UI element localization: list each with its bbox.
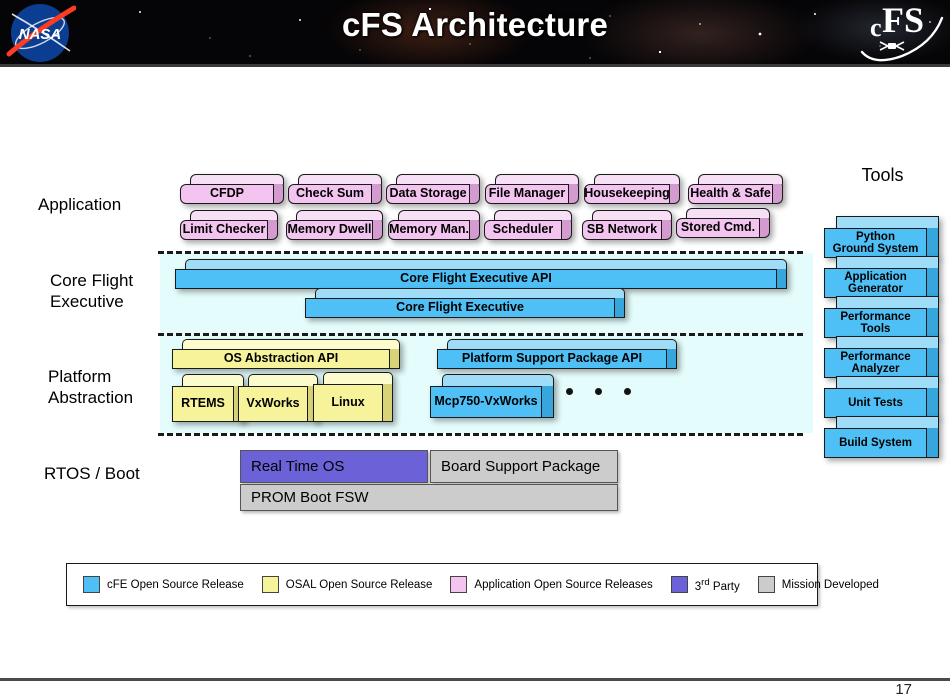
ellipsis-dot xyxy=(566,388,573,395)
app-box-housekeeping[interactable]: Housekeeping xyxy=(584,174,680,204)
os-box-rtems[interactable]: RTEMS xyxy=(172,374,244,422)
tools-label-line2: Ground System xyxy=(833,243,919,255)
tools-label-line2: Generator xyxy=(848,283,903,295)
row-label-rtos-boot: RTOS / Boot xyxy=(44,463,140,484)
tools-label-line2: Analyzer xyxy=(852,363,900,375)
app-label: CFDP xyxy=(180,184,274,204)
legend-item-third-party: 3rd Party xyxy=(671,576,740,593)
cfe-core-label: Core Flight Executive xyxy=(305,298,615,318)
app-box-sb-network[interactable]: SB Network xyxy=(582,210,672,240)
row-label-application: Application xyxy=(38,194,121,215)
legend-item-application: Application Open Source Releases xyxy=(450,576,652,593)
tools-box-python-ground-system[interactable]: Python Ground System xyxy=(824,216,939,258)
app-label: Stored Cmd. xyxy=(676,218,760,238)
osal-api-box[interactable]: OS Abstraction API xyxy=(172,339,400,369)
app-label: Memory Dwell xyxy=(286,220,373,240)
footer-divider xyxy=(0,678,950,681)
tools-label-line1: Performance xyxy=(840,351,910,363)
app-box-memory-man[interactable]: Memory Man. xyxy=(388,210,480,240)
app-box-memory-dwell[interactable]: Memory Dwell xyxy=(286,210,383,240)
legend: cFE Open Source Release OSAL Open Source… xyxy=(66,563,818,606)
legend-label: Mission Developed xyxy=(782,579,879,591)
divider-app-cfe xyxy=(158,251,803,254)
tools-box-build-system[interactable]: Build System xyxy=(824,416,939,458)
tools-label-line1: Application xyxy=(844,271,907,283)
os-label: RTEMS xyxy=(172,386,234,422)
app-label: Limit Checker xyxy=(180,220,268,240)
os-label: VxWorks xyxy=(238,386,308,422)
banner-divider xyxy=(0,64,950,67)
tools-label-line1: Build System xyxy=(824,428,927,458)
legend-swatch-application xyxy=(450,576,467,593)
legend-swatch-third-party xyxy=(671,576,688,593)
row-label-platform-abstraction: Platform Abstraction xyxy=(48,366,133,408)
rtos-box-real-time-os[interactable]: Real Time OS xyxy=(240,450,428,483)
app-box-check-sum[interactable]: Check Sum xyxy=(288,174,382,204)
app-label: Scheduler xyxy=(484,220,562,240)
app-box-limit-checker[interactable]: Limit Checker xyxy=(180,210,278,240)
app-label: Check Sum xyxy=(288,184,372,204)
cfe-core-box[interactable]: Core Flight Executive xyxy=(305,288,625,318)
cfe-api-box[interactable]: Core Flight Executive API xyxy=(175,259,787,289)
app-label: Housekeeping xyxy=(584,184,670,204)
legend-item-osal: OSAL Open Source Release xyxy=(262,576,433,593)
ellipsis-dot xyxy=(624,388,631,395)
slide-canvas: NASA c FS cFS Architecture Application C… xyxy=(0,0,950,695)
app-label: Health & Safe xyxy=(688,184,773,204)
os-label: Linux xyxy=(313,384,383,422)
legend-third-party-sup: rd xyxy=(701,577,710,588)
ellipsis-dot xyxy=(595,388,602,395)
cfe-api-label: Core Flight Executive API xyxy=(175,269,777,289)
legend-third-party-suffix: Party xyxy=(710,580,740,592)
rtos-label: PROM Boot FSW xyxy=(251,489,369,506)
app-box-health-and-safe[interactable]: Health & Safe xyxy=(688,174,783,204)
app-label: File Manager xyxy=(485,184,569,204)
tools-box-performance-analyzer[interactable]: Performance Analyzer xyxy=(824,336,939,378)
tools-box-application-generator[interactable]: Application Generator xyxy=(824,256,939,298)
app-box-file-manager[interactable]: File Manager xyxy=(485,174,579,204)
page-number: 17 xyxy=(895,681,912,695)
rtos-box-prom-boot-fsw[interactable]: PROM Boot FSW xyxy=(240,484,618,511)
tools-box-performance-tools[interactable]: Performance Tools xyxy=(824,296,939,338)
rtos-label: Real Time OS xyxy=(251,458,344,475)
tools-label-line1: Performance xyxy=(840,311,910,323)
app-box-cfdp[interactable]: CFDP xyxy=(180,174,284,204)
legend-swatch-osal xyxy=(262,576,279,593)
app-label: SB Network xyxy=(582,220,662,240)
legend-item-mission-developed: Mission Developed xyxy=(758,576,879,593)
page-title: cFS Architecture xyxy=(0,6,950,44)
row-label-core-flight-executive: Core Flight Executive xyxy=(50,270,133,312)
app-box-stored-cmd[interactable]: Stored Cmd. xyxy=(676,208,770,238)
row-label-pa-line1: Platform xyxy=(48,366,133,387)
row-label-cfe-line2: Executive xyxy=(50,291,133,312)
os-box-linux[interactable]: Linux xyxy=(313,372,393,422)
legend-swatch-cfe xyxy=(83,576,100,593)
osal-api-label: OS Abstraction API xyxy=(172,349,390,369)
row-label-cfe-line1: Core Flight xyxy=(50,270,133,291)
psp-box-mcp750-vxworks[interactable]: Mcp750-VxWorks xyxy=(430,374,554,418)
legend-label: Application Open Source Releases xyxy=(474,579,652,591)
tools-label-line1: Python xyxy=(856,231,895,243)
psp-api-box[interactable]: Platform Support Package API xyxy=(437,339,677,369)
legend-label-third-party: 3rd Party xyxy=(695,577,740,593)
divider-platform-rtos xyxy=(158,433,803,436)
legend-swatch-mission-developed xyxy=(758,576,775,593)
os-box-vxworks[interactable]: VxWorks xyxy=(238,374,318,422)
rtos-label: Board Support Package xyxy=(441,458,600,475)
legend-label: OSAL Open Source Release xyxy=(286,579,433,591)
tools-box-unit-tests[interactable]: Unit Tests xyxy=(824,376,939,418)
psp-api-label: Platform Support Package API xyxy=(437,349,667,369)
app-label: Data Storage xyxy=(386,184,470,204)
app-box-scheduler[interactable]: Scheduler xyxy=(484,210,572,240)
legend-item-cfe: cFE Open Source Release xyxy=(83,576,244,593)
tools-label-line1: Unit Tests xyxy=(824,388,927,418)
psp-label: Mcp750-VxWorks xyxy=(430,386,542,418)
psp-ellipsis-dots xyxy=(566,388,631,395)
legend-label: cFE Open Source Release xyxy=(107,579,244,591)
divider-cfe-platform xyxy=(158,333,803,336)
app-label: Memory Man. xyxy=(388,220,470,240)
rtos-box-board-support-package[interactable]: Board Support Package xyxy=(430,450,618,483)
tools-title: Tools xyxy=(815,165,950,186)
app-box-data-storage[interactable]: Data Storage xyxy=(386,174,480,204)
tools-label-line2: Tools xyxy=(861,323,891,335)
row-label-pa-line2: Abstraction xyxy=(48,387,133,408)
